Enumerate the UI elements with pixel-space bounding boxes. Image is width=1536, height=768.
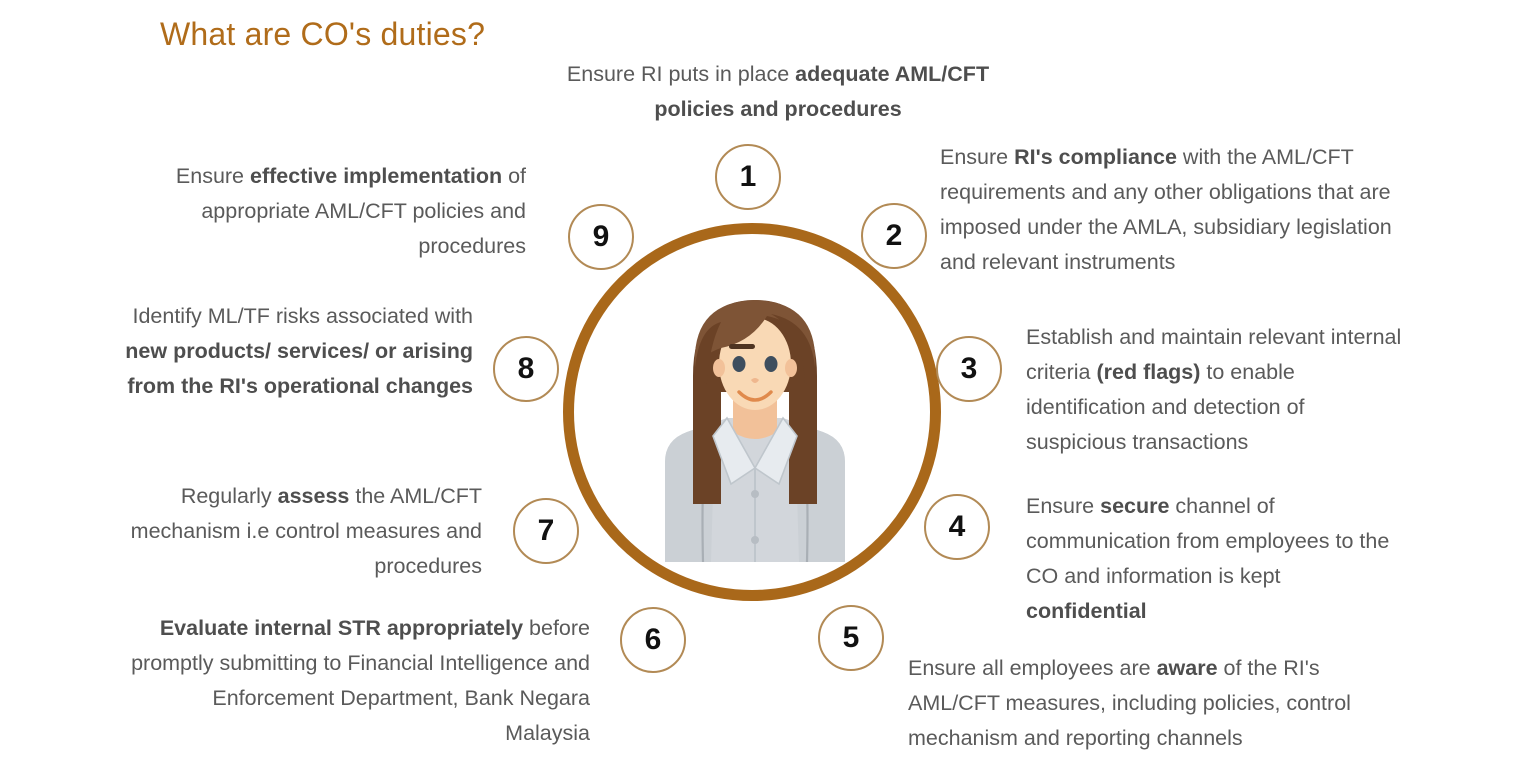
duty-text-7: Regularly assess the AML/CFT mechanism i… xyxy=(120,479,482,584)
duty-text-9: Ensure effective implementation of appro… xyxy=(140,159,526,264)
duty-number-6[interactable]: 6 xyxy=(620,607,686,673)
infographic-canvas: What are CO's duties? Ensure RI puts in … xyxy=(0,0,1536,768)
duty-number-1[interactable]: 1 xyxy=(715,144,781,210)
shirt-button-top xyxy=(751,490,759,498)
duty-text-4: Ensure secure channel of communication f… xyxy=(1026,489,1406,629)
ear-right xyxy=(785,359,797,377)
duty-number-5[interactable]: 5 xyxy=(818,605,884,671)
duty-number-7[interactable]: 7 xyxy=(513,498,579,564)
shirt-button-bottom xyxy=(751,536,759,544)
eyebrow-left xyxy=(729,344,755,349)
duty-number-2[interactable]: 2 xyxy=(861,203,927,269)
duty-text-5: Ensure all employees are aware of the RI… xyxy=(908,651,1388,756)
eye-left xyxy=(733,356,746,372)
duty-number-3[interactable]: 3 xyxy=(936,336,1002,402)
page-title: What are CO's duties? xyxy=(160,16,485,53)
duty-text-1: Ensure RI puts in place adequate AML/CFT… xyxy=(533,57,1023,127)
duty-text-3: Establish and maintain relevant internal… xyxy=(1026,320,1406,460)
ear-left xyxy=(713,359,725,377)
eye-right xyxy=(765,356,778,372)
avatar xyxy=(655,272,855,562)
duty-text-8: Identify ML/TF risks associated with new… xyxy=(120,299,473,404)
duty-number-8[interactable]: 8 xyxy=(493,336,559,402)
duty-text-2: Ensure RI's compliance with the AML/CFT … xyxy=(940,140,1420,280)
duty-number-4[interactable]: 4 xyxy=(924,494,990,560)
duty-text-6: Evaluate internal STR appropriately befo… xyxy=(128,611,590,751)
duty-number-9[interactable]: 9 xyxy=(568,204,634,270)
